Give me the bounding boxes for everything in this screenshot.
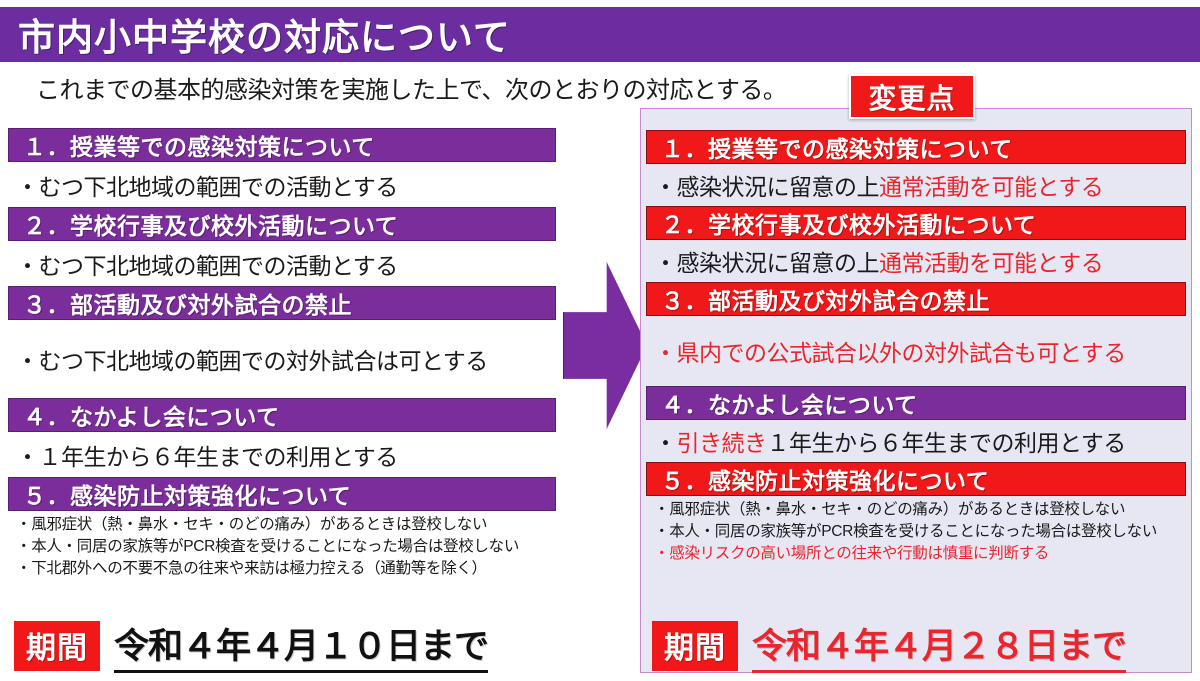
right-section-1-body-red: 通常活動を可能とする [879,168,1103,202]
left-section-4-body: ・１年生から６年生までの利用とする [8,432,556,477]
left-section-2-heading: ２．学校行事及び校外活動について [8,207,556,241]
right-section-5-bullet-1: ・風邪症状（熱・鼻水・セキ・のどの痛み）があるときは登校しない [654,499,1186,521]
left-section-2-body: ・むつ下北地域の範囲での活動とする [8,241,556,286]
left-section-4-heading: ４．なかよし会について [8,398,556,432]
right-section-2-body-black: ・感染状況に留意の上 [654,244,879,278]
right-section-4-body-prefix: ・ [654,424,677,458]
left-section-5-heading: ５．感染防止対策強化について [8,477,556,511]
right-section-5-bullet-2: ・本人・同居の家族等がPCR検査を受けることになった場合は登校しない [654,521,1186,543]
left-section-1-body: ・むつ下北地域の範囲での活動とする [8,162,556,207]
right-period-tag: 期間 [652,621,738,671]
right-section-3-body: ・県内での公式試合以外の対外試合も可とする [646,316,1186,386]
right-section-1-body-black: ・感染状況に留意の上 [654,168,879,202]
subtitle-text: これまでの基本的感染対策を実施した上で、次のとおりの対応とする。 [36,70,786,105]
left-section-5-bullet-2: ・本人・同居の家族等がPCR検査を受けることになった場合は登校しない [16,536,556,558]
left-section-5-bullet-1: ・風邪症状（熱・鼻水・セキ・のどの痛み）があるときは登校しない [16,514,556,536]
right-section-2-body: ・感染状況に留意の上通常活動を可能とする [646,240,1186,282]
left-section-5-bullet-3: ・下北郡外への不要不急の往来や来訪は極力控える（通勤等を除く） [16,558,556,580]
left-column-before: １．授業等での感染対策について ・むつ下北地域の範囲での活動とする ２．学校行事… [8,128,556,580]
right-section-2-body-red: 通常活動を可能とする [879,244,1103,278]
left-period-tag: 期間 [14,621,100,671]
right-section-1-body: ・感染状況に留意の上通常活動を可能とする [646,164,1186,206]
right-section-3-heading: ３．部活動及び対外試合の禁止 [646,282,1186,316]
left-section-1-heading: １．授業等での感染対策について [8,128,556,162]
right-section-2-heading: ２．学校行事及び校外活動について [646,206,1186,240]
right-section-5-bullet-3: ・感染リスクの高い場所との往来や行動は慎重に判断する [654,543,1186,565]
page-title: 市内小中学校の対応について [18,6,511,60]
right-section-3-body-red: ・県内での公式試合以外の対外試合も可とする [654,334,1126,368]
right-period-date: 令和４年４月２８日まで [752,618,1126,673]
right-section-1-heading: １．授業等での感染対策について [646,130,1186,164]
title-banner: 市内小中学校の対応について [0,7,1200,62]
left-section-5-body: ・風邪症状（熱・鼻水・セキ・のどの痛み）があるときは登校しない ・本人・同居の家… [8,511,556,580]
left-period-date: 令和４年４月１０日まで [114,618,488,673]
right-arrow-icon [563,262,647,429]
right-section-4-body-red: 引き続き [677,424,767,458]
left-section-3-body: ・むつ下北地域の範囲での対外試合は可とする [8,320,556,398]
right-period-row: 期間 令和４年４月２８日まで [652,618,1126,673]
left-section-3-heading: ３．部活動及び対外試合の禁止 [8,286,556,320]
right-section-4-heading: ４．なかよし会について [646,386,1186,420]
right-section-5-heading: ５．感染防止対策強化について [646,462,1186,496]
change-badge: 変更点 [849,74,975,119]
right-section-4-body-black: １年生から６年生までの利用とする [767,424,1126,458]
left-period-row: 期間 令和４年４月１０日まで [14,618,488,673]
right-section-5-body: ・風邪症状（熱・鼻水・セキ・のどの痛み）があるときは登校しない ・本人・同居の家… [646,496,1186,565]
right-section-4-body: ・引き続き１年生から６年生までの利用とする [646,420,1186,462]
right-column-after: １．授業等での感染対策について ・感染状況に留意の上通常活動を可能とする ２．学… [646,130,1186,565]
